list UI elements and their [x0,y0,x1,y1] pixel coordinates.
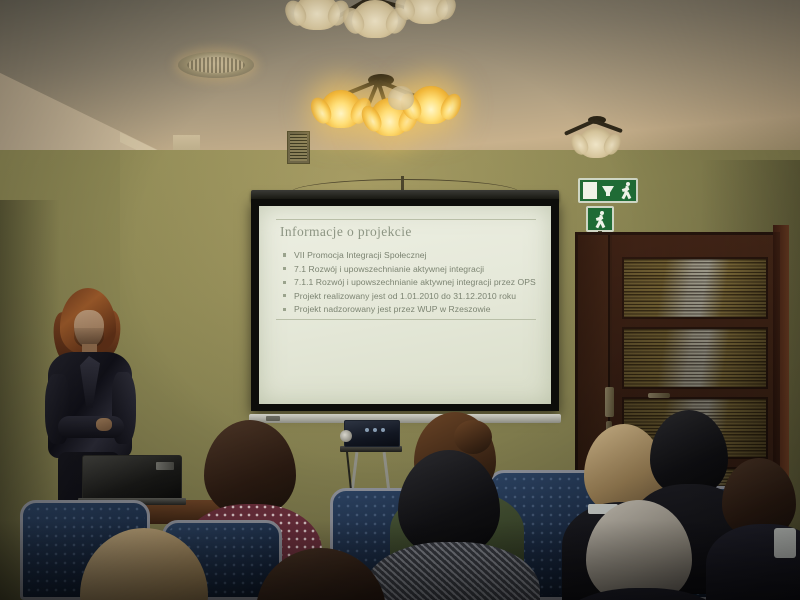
ceiling-lamp-lit [312,68,462,140]
audience-person-front-center [246,548,396,600]
audience-person-knit-sweater [372,450,532,600]
audience-person-front-gray [566,500,716,600]
slide-bullet-item: 7.1 Rozwój i upowszechnianie aktywnej in… [282,264,538,275]
slide-bullet-item: VII Promocja Integracji Społecznej [282,250,538,261]
bullet-square-icon [283,281,286,284]
presenter-hand [96,418,112,431]
exit-door-panel-icon [583,182,597,199]
emergency-exit-sign [586,206,614,232]
slide-bullet-text: VII Promocja Integracji Społecznej [294,250,427,260]
audience-head [398,450,500,556]
slide-bullet-item: Projekt nadzorowany jest przez WUP w Rze… [282,304,538,315]
laptop-badge [156,462,174,470]
screen-hook [401,176,404,190]
bullet-square-icon [283,308,286,311]
ceiling-lamp-top-dim [300,0,460,34]
ceiling-vent-icon [178,52,254,78]
slide-bullet-item: Projekt realizowany jest od 1.01.2010 do… [282,291,538,302]
audience-head [586,500,692,600]
projector-led-icon [381,428,385,432]
slide-title: Informacje o projekcie [280,224,538,240]
slide-bullet-list: VII Promocja Integracji Społecznej 7.1 R… [282,250,538,315]
audience-person-front-blonde [64,528,224,600]
slide-divider-top [276,219,536,220]
slide-divider-bottom [276,319,536,320]
conference-room-photo: Informacje o projekcie VII Promocja Inte… [0,0,800,600]
laptop-lid [82,455,182,499]
slide-bullet-text: 7.1.1 Rozwój i upowszechnianie aktywnej … [294,277,536,287]
running-person-icon [594,211,607,228]
audience-head [256,548,386,600]
screen-surface: Informacje o projekcie VII Promocja Inte… [259,206,551,404]
audience-hair-bun [454,420,492,454]
slide-bullet-item: 7.1.1 Rozwój i upowszechnianie aktywnej … [282,277,538,288]
audience-person-right-edge [714,458,800,600]
presentation-slide: Informacje o projekcie VII Promocja Inte… [259,206,551,404]
emergency-exit-sign-arrow-down [578,178,638,203]
audience-collar [774,528,796,558]
audience-head [204,420,296,516]
presenter-laptop[interactable] [82,455,182,505]
bullet-square-icon [283,253,286,256]
running-person-icon [620,182,633,199]
projector-led-icon [365,428,369,432]
slide-bullet-text: Projekt nadzorowany jest przez WUP w Rze… [294,304,491,314]
bullet-square-icon [283,294,286,297]
projector-led-icon [373,428,377,432]
slide-bullet-text: Projekt realizowany jest od 1.01.2010 do… [294,291,516,301]
slide-bullet-text: 7.1 Rozwój i upowszechnianie aktywnej in… [294,264,484,274]
projection-screen: Informacje o projekcie VII Promocja Inte… [251,199,559,411]
down-arrow-icon [602,186,614,196]
wall-air-vent-icon [287,131,310,164]
presenter-crossed-arms [58,416,124,438]
audience-shoulders [560,588,726,600]
ceiling-lamp-right-dim [556,114,642,158]
projector-lens-icon [340,430,352,442]
audience-head [80,528,208,600]
bullet-square-icon [283,267,286,270]
